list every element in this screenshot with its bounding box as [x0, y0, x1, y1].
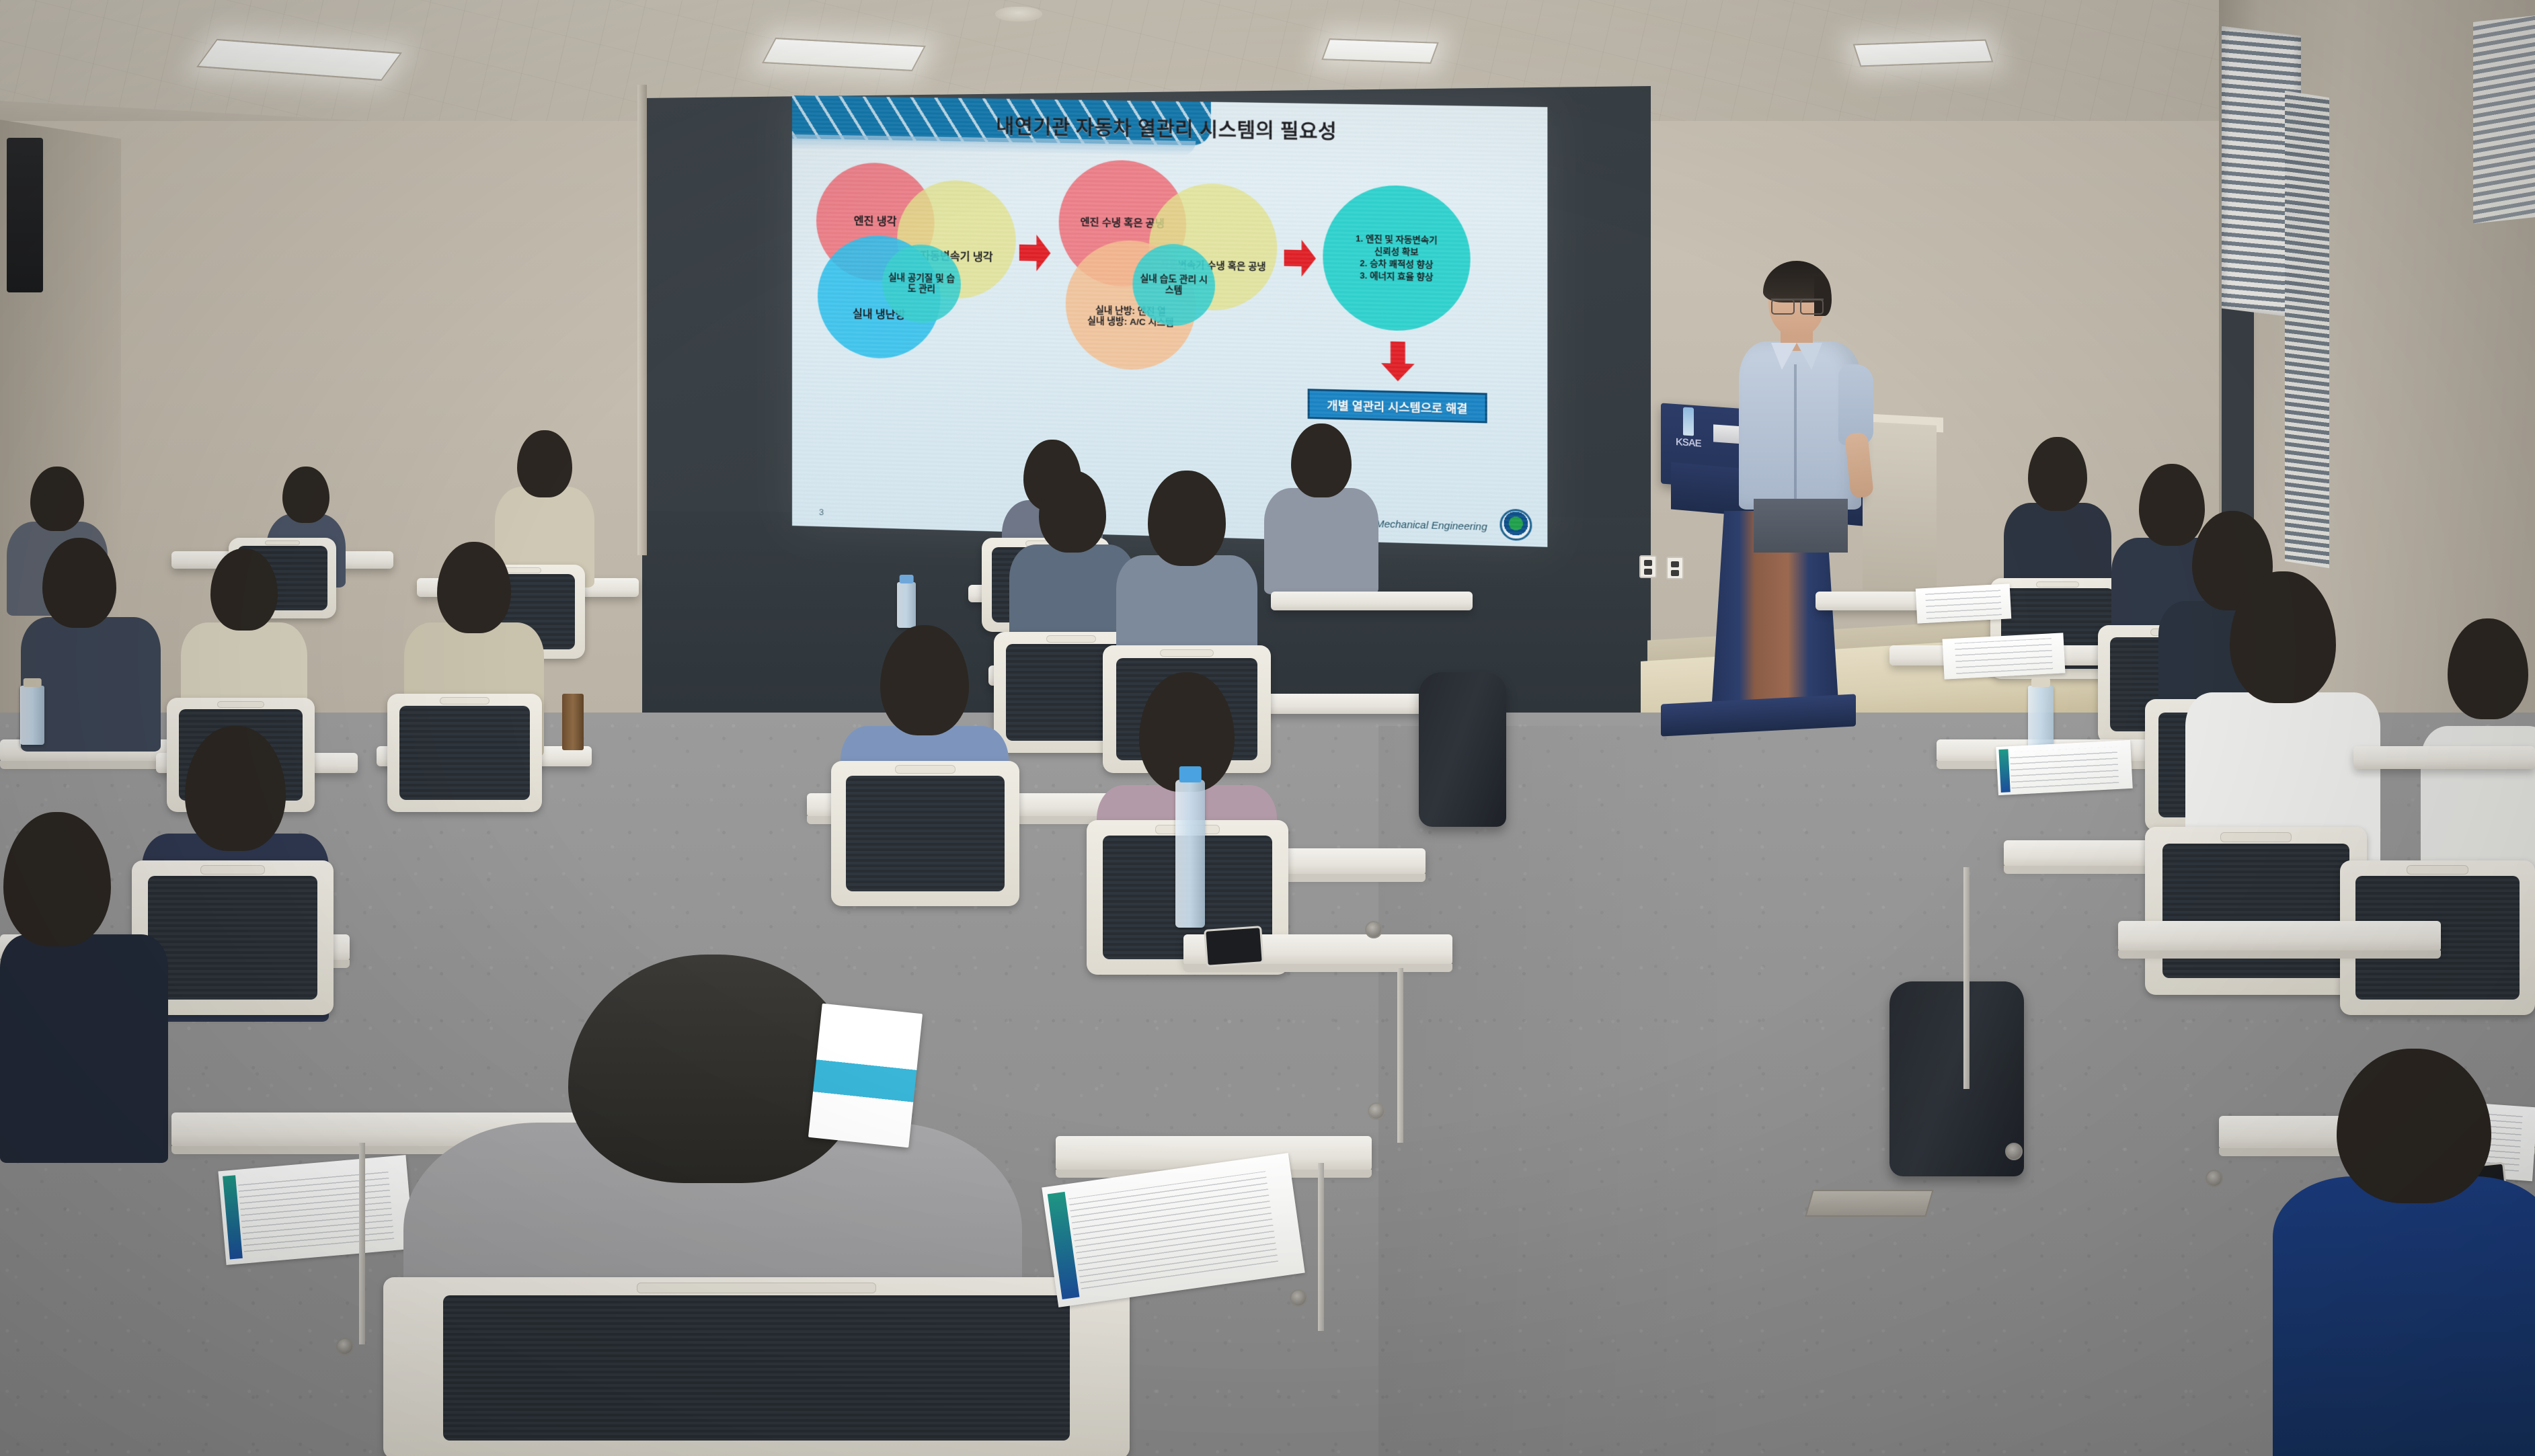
desk-caster — [1365, 921, 1382, 938]
desk-leg — [1318, 1163, 1324, 1331]
chair-label — [637, 1283, 875, 1293]
outcome-line-4: 3. 에너지 효율 향상 — [1360, 270, 1433, 282]
desk-edge — [2118, 951, 2441, 959]
attendee-head — [568, 955, 857, 1183]
slide-number: 3 — [819, 507, 824, 517]
attendee-torso — [2273, 1176, 2535, 1456]
chair-mesh-back — [399, 706, 529, 801]
power-outlet[interactable] — [1666, 557, 1684, 579]
outcome-line-2: 신뢰성 확보 — [1374, 246, 1419, 257]
chair-label — [2220, 832, 2292, 842]
venn-group-middle: 엔진 수냉 혹은 공냉 자동변속기 수냉 혹은 공냉 실내 난방: 엔진 열 실… — [1053, 159, 1280, 381]
desk-caster — [1368, 1102, 1385, 1120]
presenter-shirt-placket — [1794, 364, 1797, 499]
desk — [2118, 921, 2441, 952]
smoke-detector-icon — [995, 7, 1042, 22]
podium-water-bottle — [1683, 407, 1694, 436]
window-blinds — [2473, 15, 2535, 224]
chair-label — [2407, 865, 2469, 875]
chair — [831, 761, 1019, 906]
chair-mesh-back — [846, 776, 1004, 892]
venn-label: 엔진 냉각 — [854, 214, 897, 229]
paper-spine — [1998, 750, 2010, 793]
desk-caster — [2005, 1143, 2023, 1160]
outcome-line-1: 1. 엔진 및 자동변속기 — [1356, 233, 1437, 246]
paper-text-lines — [238, 1168, 394, 1252]
chair-label — [1160, 649, 1214, 657]
floor-vent — [1805, 1190, 1933, 1217]
attendee-head — [3, 812, 111, 946]
attendee-head — [2230, 571, 2336, 703]
bottle-cap — [24, 678, 42, 687]
lecture-hall-scene: 내연기관 자동차 열관리 시스템의 필요성 엔진 냉각 자동변속기 냉각 실내 … — [0, 0, 2535, 1456]
attendee-head — [1039, 471, 1106, 553]
attendee-head — [30, 467, 84, 531]
attendee-head — [2337, 1049, 2491, 1203]
paper-handout — [1916, 583, 2012, 623]
desk-caster — [2206, 1170, 2223, 1187]
bottle-cap — [1179, 766, 1202, 782]
attendee-head — [880, 625, 969, 735]
presenter-trousers — [1754, 499, 1848, 553]
attendee-head — [185, 726, 286, 851]
chair-label — [1046, 635, 1096, 643]
window-blinds — [2285, 91, 2329, 568]
attendee-head — [1291, 423, 1352, 497]
outcome-line-3: 2. 승차 쾌적성 향상 — [1360, 258, 1433, 270]
conclusion-text: 개별 열관리 시스템으로 해결 — [1327, 396, 1468, 417]
bottle-cap — [2031, 678, 2050, 687]
attendee-head — [42, 538, 116, 628]
attendee-head — [517, 430, 572, 497]
conclusion-box: 개별 열관리 시스템으로 해결 — [1308, 389, 1487, 423]
attendee-right-foreground — [2273, 1049, 2535, 1456]
venn-circle-air-humidity: 실내 공기질 및 습도 관리 — [882, 244, 961, 324]
attendee-head — [2028, 437, 2087, 511]
chair-label — [200, 865, 265, 875]
chair-mesh-back — [443, 1295, 1070, 1441]
paper-text-lines — [1068, 1171, 1278, 1290]
chair — [383, 1277, 1130, 1456]
chair-label — [217, 701, 264, 708]
paper-handout — [1943, 633, 2066, 679]
desk-leg — [1963, 867, 1969, 1089]
chair-label — [265, 540, 299, 545]
paper-text-lines — [1925, 588, 2002, 618]
water-bottle — [1175, 780, 1205, 928]
attendee-head — [282, 467, 329, 523]
attendee-head — [437, 542, 511, 633]
chair-mesh-back — [148, 876, 317, 1000]
backpack — [1419, 672, 1506, 827]
venn-circle-outcomes: 1. 엔진 및 자동변속기 신뢰성 확보 2. 승차 쾌적성 향상 3. 에너지… — [1323, 184, 1470, 332]
chair — [2145, 827, 2367, 995]
venn-label: 실내 공기질 및 습도 관리 — [886, 272, 957, 295]
chair-label — [895, 765, 955, 774]
coffee-bottle — [562, 694, 584, 750]
university-logo-icon — [1499, 509, 1532, 541]
desk-leg — [1397, 968, 1403, 1143]
venn-group-left: 엔진 냉각 자동변속기 냉각 실내 냉난방 실내 공기질 및 습도 관리 — [812, 161, 1015, 367]
attendee-head — [210, 549, 278, 631]
bottle-cap — [900, 575, 914, 583]
desk-leg — [359, 1143, 365, 1344]
smartphone-on-desk[interactable] — [1204, 926, 1264, 967]
blue-cover-booklet — [808, 1004, 923, 1148]
chair-label — [440, 697, 490, 704]
desk — [1271, 592, 1473, 610]
glasses-icon — [1771, 298, 1824, 311]
power-outlet[interactable] — [1639, 555, 1657, 578]
arrow-right-icon-2 — [1284, 239, 1316, 277]
attendee-left-front-2 — [0, 807, 168, 1156]
desk — [2353, 746, 2535, 769]
arrow-down-icon — [1381, 341, 1415, 382]
chair-label — [2036, 581, 2079, 588]
presenter — [1729, 264, 1871, 546]
attendee-head — [2448, 618, 2528, 719]
water-bottle — [20, 686, 44, 745]
venn-label: 실내 습도 관리 시스템 — [1137, 273, 1211, 297]
paper-text-lines — [1955, 638, 2053, 674]
attendee-torso — [1264, 488, 1378, 594]
ceiling-light — [1321, 38, 1439, 64]
paper-text-lines — [2010, 746, 2119, 788]
attendee-torso — [0, 934, 168, 1163]
attendee-center-back-2 — [1264, 423, 1378, 592]
desk-caster — [336, 1338, 354, 1355]
paper-handout — [1996, 740, 2132, 795]
water-bottle — [897, 582, 916, 628]
attendee-head — [1148, 471, 1226, 566]
ceiling-light — [1853, 40, 1994, 67]
backpack — [1889, 981, 2024, 1176]
side-table — [1863, 421, 1937, 594]
wall-panel-edge — [637, 85, 647, 555]
wall-speaker — [7, 138, 43, 292]
arrow-right-icon-1 — [1019, 235, 1051, 272]
chair — [387, 694, 542, 812]
desk-caster — [1290, 1289, 1307, 1307]
podium-brand-mark: KSAE — [1676, 434, 1715, 452]
